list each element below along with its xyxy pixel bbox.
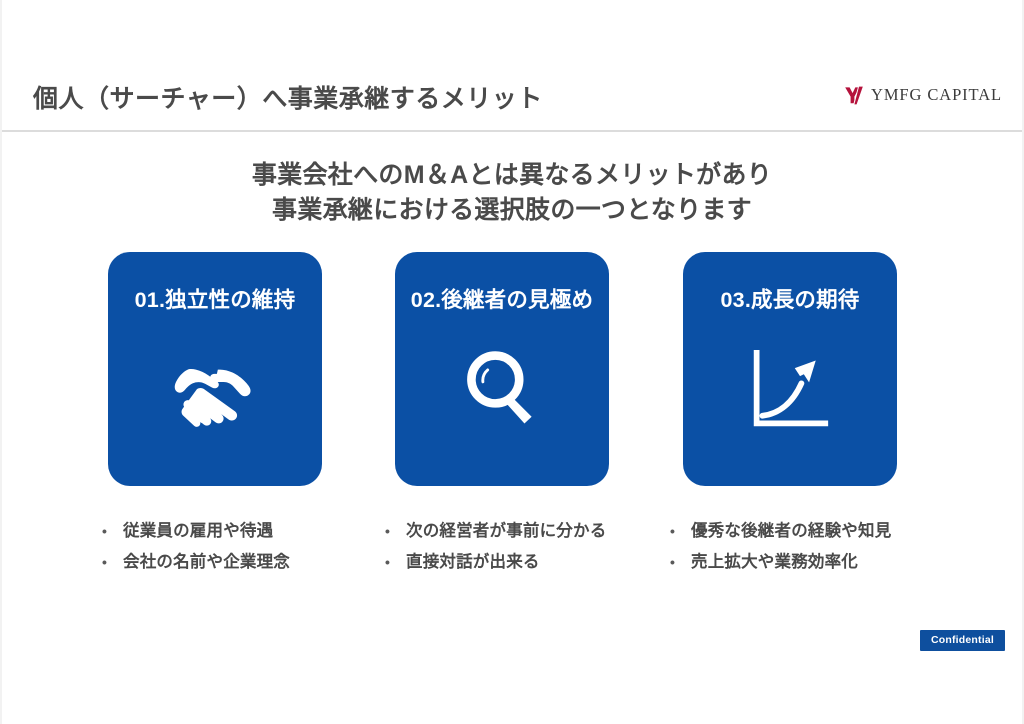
brand-name: YMFG CAPITAL bbox=[871, 85, 1002, 105]
list-item-label: 従業員の雇用や待遇 bbox=[123, 517, 273, 541]
slide-subtitle: 事業会社へのM＆Aとは異なるメリットがあり 事業承継における選択肢の一つとなりま… bbox=[0, 158, 1024, 227]
benefit-card-02-bullets: • 次の経営者が事前に分かる • 直接対話が出来る bbox=[378, 517, 678, 579]
handshake-icon bbox=[161, 340, 269, 440]
list-item-label: 優秀な後継者の経験や知見 bbox=[691, 517, 891, 541]
benefit-card-03-title: 03.成長の期待 bbox=[683, 283, 897, 314]
benefit-card-01-title: 01.独立性の維持 bbox=[108, 283, 322, 314]
confidential-badge: Confidential bbox=[920, 630, 1005, 651]
benefit-card-01[interactable]: 01.独立性の維持 bbox=[108, 252, 322, 486]
benefit-card-03[interactable]: 03.成長の期待 bbox=[683, 252, 897, 486]
benefit-card-02-title: 02.後継者の見極め bbox=[395, 283, 609, 314]
list-item: • 従業員の雇用や待遇 bbox=[95, 517, 395, 541]
list-item-label: 次の経営者が事前に分かる bbox=[406, 517, 606, 541]
subtitle-line-2: 事業承継における選択肢の一つとなります bbox=[0, 193, 1024, 228]
bullet-marker-icon: • bbox=[95, 555, 123, 569]
benefit-cards-row: 01.独立性の維持 02.後継者の見極め bbox=[0, 252, 1024, 486]
brand-logo: YMFG CAPITAL bbox=[844, 85, 1002, 105]
benefit-card-01-bullets: • 従業員の雇用や待遇 • 会社の名前や企業理念 bbox=[95, 517, 395, 579]
subtitle-line-1: 事業会社へのM＆Aとは異なるメリットがあり bbox=[0, 158, 1024, 193]
benefit-card-03-bullets: • 優秀な後継者の経験や知見 • 売上拡大や業務効率化 bbox=[663, 517, 963, 579]
bullet-marker-icon: • bbox=[378, 524, 406, 538]
list-item: • 直接対話が出来る bbox=[378, 548, 678, 572]
bullet-marker-icon: • bbox=[663, 524, 691, 538]
growth-chart-arrow-icon bbox=[736, 340, 844, 440]
list-item-label: 直接対話が出来る bbox=[406, 548, 540, 572]
benefit-card-02[interactable]: 02.後継者の見極め bbox=[395, 252, 609, 486]
list-item: • 次の経営者が事前に分かる bbox=[378, 517, 678, 541]
bullet-marker-icon: • bbox=[663, 555, 691, 569]
list-item: • 優秀な後継者の経験や知見 bbox=[663, 517, 963, 541]
list-item-label: 売上拡大や業務効率化 bbox=[691, 548, 858, 572]
list-item-label: 会社の名前や企業理念 bbox=[123, 548, 290, 572]
bullet-marker-icon: • bbox=[378, 555, 406, 569]
slide-header: 個人（サーチャー）へ事業承継するメリット YMFG CAPITAL bbox=[0, 0, 1024, 131]
slide-canvas: 個人（サーチャー）へ事業承継するメリット YMFG CAPITAL 事業会社への… bbox=[0, 0, 1024, 724]
bullet-marker-icon: • bbox=[95, 524, 123, 538]
page-title: 個人（サーチャー）へ事業承継するメリット bbox=[33, 79, 543, 115]
list-item: • 会社の名前や企業理念 bbox=[95, 548, 395, 572]
header-divider bbox=[2, 130, 1022, 132]
magnifying-glass-icon bbox=[448, 340, 556, 440]
list-item: • 売上拡大や業務効率化 bbox=[663, 548, 963, 572]
ymfg-y-mark-icon bbox=[844, 86, 864, 105]
